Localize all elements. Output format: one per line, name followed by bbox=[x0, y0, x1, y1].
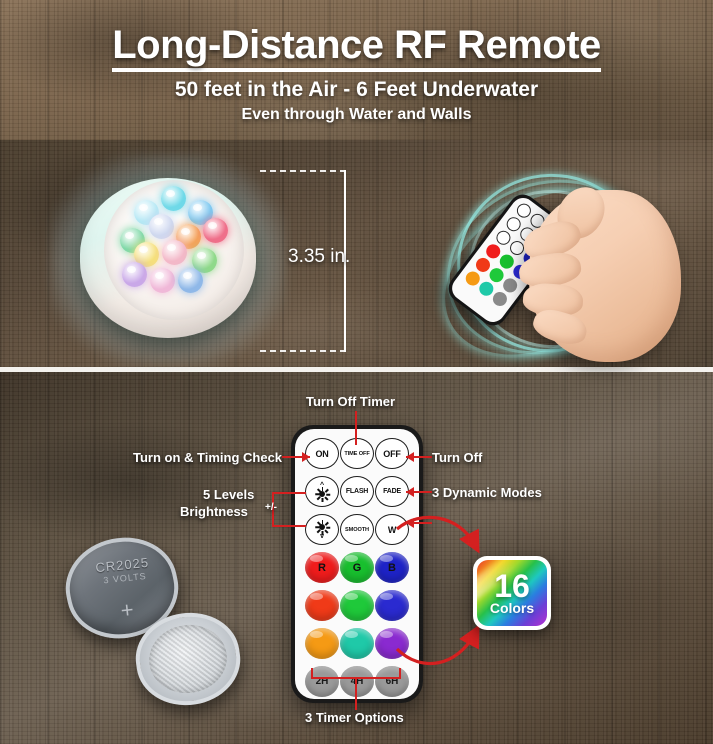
page-title: Long-Distance RF Remote bbox=[0, 23, 713, 72]
led-bead bbox=[203, 218, 228, 243]
led-bead bbox=[150, 268, 175, 293]
arrowhead-turn-off bbox=[406, 452, 414, 462]
led-face bbox=[104, 180, 244, 320]
remote-button-flash[interactable]: FLASH bbox=[340, 476, 374, 507]
led-bead bbox=[161, 186, 186, 211]
battery-back-surface bbox=[145, 620, 232, 698]
remote-color-button-3-1[interactable] bbox=[305, 628, 339, 659]
annotation-timer-options: 3 Timer Options bbox=[305, 710, 404, 725]
led-light-product bbox=[72, 172, 262, 347]
remote-button-time-off[interactable]: TIME OFF bbox=[340, 438, 374, 469]
connector-brightness-top bbox=[272, 492, 306, 494]
dimension-extension-top bbox=[260, 170, 346, 172]
remote-color-button-green[interactable]: G bbox=[340, 552, 374, 583]
annotation-dynamic-modes: 3 Dynamic Modes bbox=[432, 485, 542, 500]
connector-brightness-bottom bbox=[272, 525, 306, 527]
curved-arrow-top bbox=[397, 517, 475, 545]
remote-button-brightness-up[interactable]: ^ bbox=[305, 476, 339, 507]
curved-arrow-bottom bbox=[397, 633, 475, 664]
header-subtitle-primary: 50 feet in the Air - 6 Feet Underwater bbox=[0, 78, 713, 102]
sun-icon bbox=[316, 521, 329, 534]
remote-color-button-2-1[interactable] bbox=[305, 590, 339, 621]
badge-gradient: 16 Colors bbox=[477, 560, 547, 626]
annotation-turn-off-timer: Turn Off Timer bbox=[306, 394, 395, 409]
annotation-levels-line1: 5 Levels bbox=[203, 487, 254, 502]
badge-word: Colors bbox=[490, 601, 534, 615]
annotation-turn-on-timing-check: Turn on & Timing Check bbox=[133, 450, 282, 465]
sun-icon bbox=[316, 488, 329, 501]
battery-polarity-label: + bbox=[119, 597, 135, 624]
hand-holding-remote bbox=[425, 168, 701, 364]
dimension-marker: 3.35 in. bbox=[260, 168, 370, 354]
remote-color-button-2-2[interactable] bbox=[340, 590, 374, 621]
connector-timer-middle bbox=[355, 677, 357, 710]
dimension-extension-bottom bbox=[260, 350, 346, 352]
remote-button-row: ON TIME OFF OFF bbox=[302, 438, 412, 469]
remote-button-brightness-down[interactable]: v bbox=[305, 514, 339, 545]
page-title-text: Long-Distance RF Remote bbox=[112, 24, 601, 72]
connector-turn-off-timer bbox=[355, 411, 357, 445]
led-bead bbox=[162, 240, 187, 265]
annotation-levels-line2: Brightness bbox=[180, 504, 248, 519]
led-bead bbox=[149, 214, 174, 239]
dimension-label: 3.35 in. bbox=[288, 246, 418, 268]
remote-button-row: ^ FLASH bbox=[302, 476, 412, 507]
annotation-plus-minus: +/- bbox=[265, 502, 277, 513]
remote-color-button-red[interactable]: R bbox=[305, 552, 339, 583]
header-subtitle-secondary: Even through Water and Walls bbox=[0, 106, 713, 124]
remote-button-on[interactable]: ON bbox=[305, 438, 339, 469]
led-bead bbox=[178, 268, 203, 293]
remote-button-fade[interactable]: FADE bbox=[375, 476, 409, 507]
sixteen-colors-badge: 16 Colors bbox=[473, 556, 551, 630]
infographic-page: Long-Distance RF Remote 50 feet in the A… bbox=[0, 0, 713, 744]
arrowhead-turn-on bbox=[302, 452, 310, 462]
led-body bbox=[80, 178, 256, 338]
badge-number: 16 bbox=[494, 571, 530, 601]
arrowhead-dynamic-modes bbox=[406, 487, 414, 497]
led-bead bbox=[122, 262, 147, 287]
annotation-turn-off: Turn Off bbox=[432, 450, 482, 465]
connector-timer-left bbox=[311, 668, 313, 679]
remote-button-off[interactable]: OFF bbox=[375, 438, 409, 469]
remote-button-smooth[interactable]: SMOOTH bbox=[340, 514, 374, 545]
remote-timer-button-4h[interactable]: 4H bbox=[340, 666, 374, 697]
remote-color-button-3-2[interactable] bbox=[340, 628, 374, 659]
